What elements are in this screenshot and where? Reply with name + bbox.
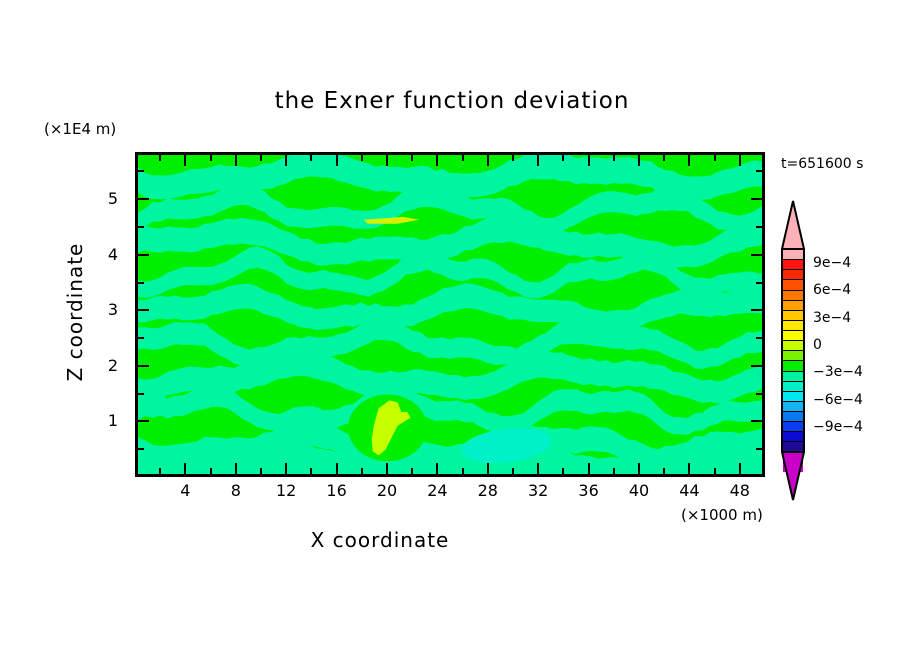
colorbar-band — [783, 291, 803, 301]
colorbar-tick-label: −6e−4 — [813, 392, 863, 408]
x-tick-minor — [159, 155, 161, 161]
x-axis-title: X coordinate — [0, 528, 760, 552]
x-tick-label: 12 — [266, 481, 306, 500]
y-axis-unit-label: (×1E4 m) — [44, 120, 116, 138]
x-tick-label: 8 — [216, 481, 256, 500]
y-tick-minor — [756, 393, 762, 395]
y-tick-major — [751, 365, 762, 367]
y-tick-minor — [756, 282, 762, 284]
x-tick-label: 48 — [720, 481, 760, 500]
y-tick-major — [751, 420, 762, 422]
x-tick-label: 20 — [367, 481, 407, 500]
contour-plot-area — [135, 152, 765, 477]
colorbar-band — [783, 412, 803, 422]
colorbar-band — [783, 361, 803, 371]
colorbar-top-arrow — [781, 200, 805, 250]
x-tick-major — [638, 463, 640, 474]
x-tick-major — [285, 463, 287, 474]
x-tick-major — [688, 463, 690, 474]
x-tick-minor — [159, 468, 161, 474]
x-tick-major — [386, 463, 388, 474]
x-tick-major — [739, 155, 741, 166]
y-tick-label: 1 — [96, 411, 118, 430]
y-tick-label: 4 — [96, 245, 118, 264]
y-tick-minor — [756, 226, 762, 228]
x-tick-major — [537, 155, 539, 166]
y-tick-major — [138, 198, 149, 200]
y-axis-title: Z coordinate — [63, 212, 87, 412]
x-tick-minor — [663, 155, 665, 161]
colorbar-band — [783, 392, 803, 402]
y-tick-major — [138, 365, 149, 367]
colorbar-band — [783, 270, 803, 280]
colorbar-band — [783, 422, 803, 432]
x-tick-minor — [512, 155, 514, 161]
x-tick-minor — [411, 155, 413, 161]
y-tick-major — [751, 198, 762, 200]
colorbar-tick-label: 9e−4 — [813, 255, 851, 271]
colorbar-tick-label: −3e−4 — [813, 364, 863, 380]
time-annotation: t=651600 s — [781, 156, 863, 172]
y-tick-major — [138, 254, 149, 256]
y-tick-label: 2 — [96, 356, 118, 375]
y-tick-minor — [756, 337, 762, 339]
colorbar-tick-label: −9e−4 — [813, 419, 863, 435]
y-tick-minor — [138, 282, 144, 284]
colorbar-tick-label: 3e−4 — [813, 310, 851, 326]
x-tick-major — [235, 463, 237, 474]
x-tick-major — [436, 463, 438, 474]
x-tick-minor — [512, 468, 514, 474]
y-tick-major — [751, 254, 762, 256]
x-tick-minor — [411, 468, 413, 474]
y-tick-major — [138, 420, 149, 422]
colorbar-band — [783, 260, 803, 270]
y-tick-label: 3 — [96, 300, 118, 319]
colorbar-band — [783, 382, 803, 392]
x-tick-minor — [562, 155, 564, 161]
chart-title: the Exner function deviation — [0, 88, 904, 114]
x-tick-major — [638, 155, 640, 166]
x-tick-major — [537, 463, 539, 474]
x-tick-label: 32 — [518, 481, 558, 500]
y-tick-minor — [756, 448, 762, 450]
x-tick-major — [184, 463, 186, 474]
x-tick-label: 36 — [569, 481, 609, 500]
x-tick-minor — [613, 468, 615, 474]
y-tick-minor — [138, 448, 144, 450]
x-tick-minor — [260, 155, 262, 161]
x-tick-major — [235, 155, 237, 166]
y-tick-minor — [138, 337, 144, 339]
x-tick-minor — [714, 468, 716, 474]
x-tick-minor — [663, 468, 665, 474]
x-tick-minor — [462, 155, 464, 161]
colorbar-band — [783, 250, 803, 260]
x-tick-minor — [210, 468, 212, 474]
colorbar-bottom-arrow — [781, 451, 805, 501]
y-tick-major — [138, 309, 149, 311]
colorbar-band — [783, 311, 803, 321]
contour-field — [138, 155, 762, 474]
x-tick-label: 24 — [417, 481, 457, 500]
x-tick-minor — [613, 155, 615, 161]
colorbar-band — [783, 402, 803, 412]
colorbar-band — [783, 331, 803, 341]
x-tick-major — [336, 463, 338, 474]
colorbar-bands — [781, 248, 805, 453]
colorbar-tick-label: 6e−4 — [813, 282, 851, 298]
y-tick-major — [751, 309, 762, 311]
x-tick-minor — [310, 155, 312, 161]
x-tick-major — [739, 463, 741, 474]
colorbar-band — [783, 432, 803, 442]
colorbar-band — [783, 321, 803, 331]
x-tick-minor — [562, 468, 564, 474]
x-tick-label: 4 — [165, 481, 205, 500]
colorbar-tick-label: 0 — [813, 337, 822, 353]
x-tick-major — [487, 155, 489, 166]
x-tick-label: 28 — [468, 481, 508, 500]
x-tick-major — [487, 463, 489, 474]
x-tick-label: 44 — [669, 481, 709, 500]
x-axis-unit-label: (×1000 m) — [681, 506, 763, 524]
x-tick-label: 40 — [619, 481, 659, 500]
colorbar-band — [783, 372, 803, 382]
x-tick-minor — [462, 468, 464, 474]
y-tick-label: 5 — [96, 189, 118, 208]
colorbar-band — [783, 351, 803, 361]
colorbar: 9e−46e−43e−40−3e−4−6e−4−9e−4 — [781, 200, 805, 500]
x-tick-minor — [310, 468, 312, 474]
x-tick-major — [336, 155, 338, 166]
y-tick-minor — [138, 226, 144, 228]
x-tick-minor — [260, 468, 262, 474]
x-tick-minor — [714, 155, 716, 161]
x-tick-major — [386, 155, 388, 166]
x-tick-major — [184, 155, 186, 166]
x-tick-major — [588, 463, 590, 474]
x-tick-label: 16 — [317, 481, 357, 500]
x-tick-minor — [361, 468, 363, 474]
colorbar-band — [783, 280, 803, 290]
colorbar-band — [783, 341, 803, 351]
x-tick-minor — [361, 155, 363, 161]
x-tick-minor — [210, 155, 212, 161]
y-tick-minor — [756, 170, 762, 172]
y-tick-minor — [138, 393, 144, 395]
x-tick-major — [285, 155, 287, 166]
x-tick-major — [688, 155, 690, 166]
colorbar-band — [783, 301, 803, 311]
y-tick-minor — [138, 170, 144, 172]
x-tick-major — [436, 155, 438, 166]
x-tick-major — [588, 155, 590, 166]
